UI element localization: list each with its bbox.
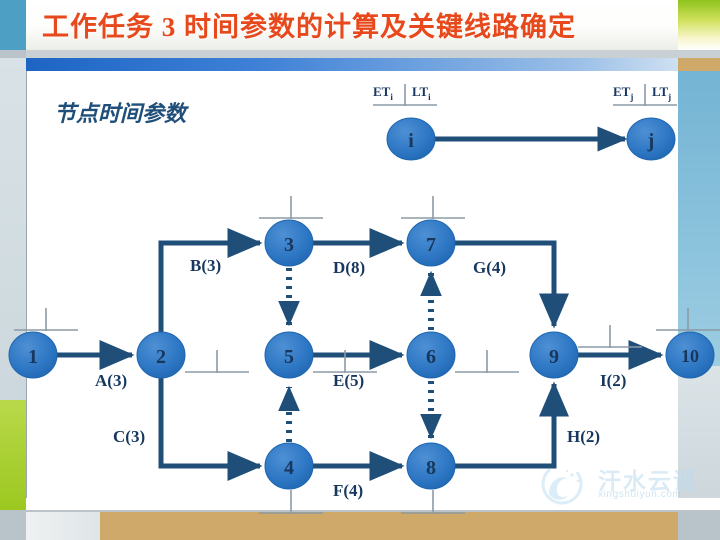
legend-node-j-label: j: [647, 130, 655, 152]
diagram-edge-labels: A(3) B(3) C(3) D(8) E(5) F(4) G(4) H(2) …: [95, 256, 626, 500]
legend-et-i: ETi: [373, 84, 393, 102]
node-1-label: 1: [28, 346, 38, 368]
edge-label-D: D(8): [333, 258, 365, 277]
edge-label-H: H(2): [567, 427, 600, 446]
legend-et-j: ETj: [613, 84, 633, 102]
edge-7-9: [453, 243, 554, 326]
node-7-label: 7: [426, 234, 436, 256]
edge-8-9: [453, 384, 554, 466]
node-10-label: 10: [681, 346, 699, 366]
edge-label-I: I(2): [600, 371, 626, 390]
legend-lt-j: LTj: [652, 84, 671, 102]
node-2-label: 2: [156, 346, 166, 368]
node-3-label: 3: [284, 234, 294, 256]
slide-canvas: 工作任务 3 时间参数的计算及关键线路确定 节点时间参数: [0, 0, 720, 540]
legend-node-i-label: i: [408, 130, 414, 152]
edge-label-G: G(4): [473, 258, 506, 277]
edge-label-E: E(5): [333, 371, 364, 390]
legend-group: ETi LTi ETj LTj i j: [373, 84, 677, 160]
edge-label-C: C(3): [113, 427, 145, 446]
edge-label-B: B(3): [190, 256, 221, 275]
node-6-label: 6: [426, 346, 436, 368]
network-diagram: ETi LTi ETj LTj i j: [0, 0, 720, 540]
node-4-label: 4: [284, 457, 294, 479]
edge-2-4: [161, 377, 260, 466]
node-9-label: 9: [549, 346, 559, 368]
node-8-label: 8: [426, 457, 436, 479]
edge-label-F: F(4): [333, 481, 363, 500]
legend-lt-i: LTi: [412, 84, 431, 102]
edge-label-A: A(3): [95, 371, 127, 390]
node-5-label: 5: [284, 346, 294, 368]
